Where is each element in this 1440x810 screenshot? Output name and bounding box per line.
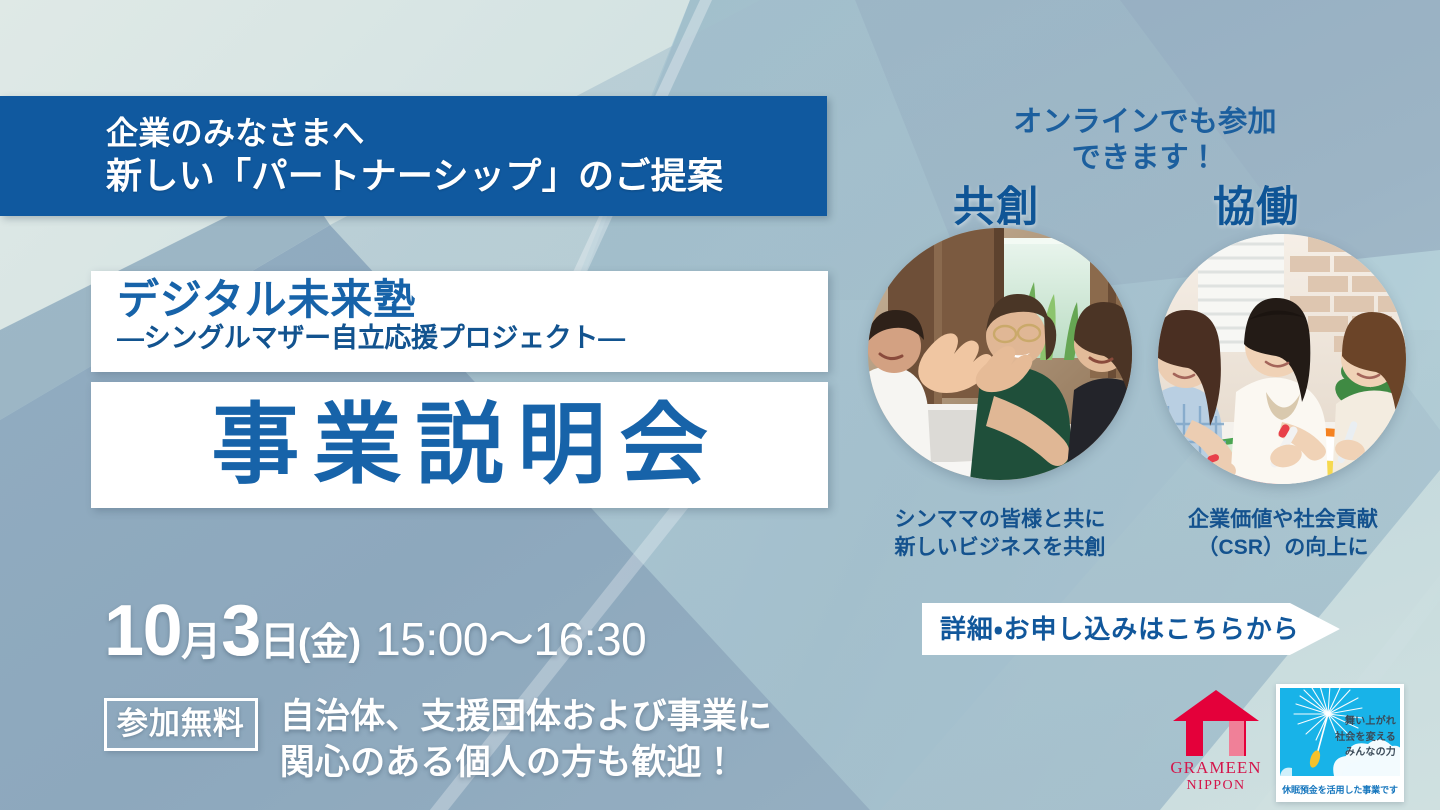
header-line-2: 新しい「パートナーシップ」のご提案	[106, 153, 827, 198]
online-note-line-1: オンラインでも参加	[965, 104, 1325, 140]
event-title-plate: 事業説明会	[91, 382, 828, 508]
audience-note-line-2: 関心のある個人の方も歓迎！	[280, 740, 772, 786]
audience-note: 自治体、支援団体および事業に 関心のある個人の方も歓迎！	[280, 694, 772, 786]
event-name: 事業説明会	[197, 401, 721, 489]
grameen-name: GRAMEEN	[1170, 758, 1261, 778]
cta-label: 詳細・お申し込みはこちらから	[922, 616, 1300, 642]
event-day-unit: 日	[260, 622, 300, 662]
slogan-line-2: 社会を変える	[1335, 730, 1396, 746]
highlight-photo-kyoso	[868, 228, 1132, 480]
slogan-line-1: 舞い上がれ	[1335, 714, 1396, 730]
event-weekday: (金)	[298, 624, 361, 662]
audience-note-line-1: 自治体、支援団体および事業に	[280, 694, 772, 740]
highlight-caption-kyoso: シンママの皆様と共に 新しいビジネスを共創	[866, 506, 1134, 562]
online-availability-note: オンラインでも参加 できます！	[965, 104, 1325, 177]
program-subtitle: ―シングルマザー自立応援プロジェクト―	[117, 324, 828, 354]
highlight-label-kyoso: 共創	[953, 186, 1040, 228]
event-month-unit: 月	[181, 622, 221, 662]
dormant-deposit-slogan: 舞い上がれ 社会を変える みんなの力	[1335, 714, 1396, 761]
online-note-line-2: できます！	[965, 140, 1325, 176]
event-day: 3	[221, 595, 260, 667]
highlight-photo-kyodo	[1158, 234, 1406, 484]
free-admission-badge: 参加無料	[104, 698, 258, 751]
cta-arrow-banner[interactable]: 詳細・お申し込みはこちらから	[922, 603, 1340, 655]
event-time: 15:00〜16:30	[375, 616, 646, 662]
program-name: デジタル未来塾	[117, 277, 828, 322]
dormant-deposit-logo: 舞い上がれ 社会を変える みんなの力 休眠預金を活用した事業です	[1276, 684, 1404, 802]
dormant-deposit-footer: 休眠預金を活用した事業です	[1280, 786, 1400, 798]
slogan-line-3: みんなの力	[1335, 745, 1396, 761]
header-line-1: 企業のみなさまへ	[106, 113, 827, 153]
header-banner: 企業のみなさまへ 新しい「パートナーシップ」のご提案	[0, 96, 827, 216]
highlight-caption-kyodo: 企業価値や社会貢献 （CSR）の向上に	[1152, 506, 1414, 562]
caption-kyodo-line-1: 企業価値や社会貢献	[1152, 506, 1414, 534]
caption-kyoso-line-2: 新しいビジネスを共創	[866, 534, 1134, 562]
caption-kyodo-line-2: （CSR）の向上に	[1152, 534, 1414, 562]
grameen-sub: NIPPON	[1187, 778, 1246, 794]
highlight-label-kyodo: 協働	[1213, 186, 1300, 228]
caption-kyoso-line-1: シンママの皆様と共に	[866, 506, 1134, 534]
event-month: 10	[104, 595, 181, 667]
house-icon	[1173, 690, 1259, 756]
grameen-nippon-logo: GRAMEEN NIPPON	[1166, 690, 1266, 798]
admission-row: 参加無料 自治体、支援団体および事業に 関心のある個人の方も歓迎！	[104, 694, 772, 786]
program-title-plate: デジタル未来塾 ―シングルマザー自立応援プロジェクト―	[91, 271, 828, 372]
event-datetime: 10 月 3 日 (金) 15:00〜16:30	[104, 595, 646, 667]
event-poster: 企業のみなさまへ 新しい「パートナーシップ」のご提案 デジタル未来塾 ―シングル…	[0, 0, 1440, 810]
